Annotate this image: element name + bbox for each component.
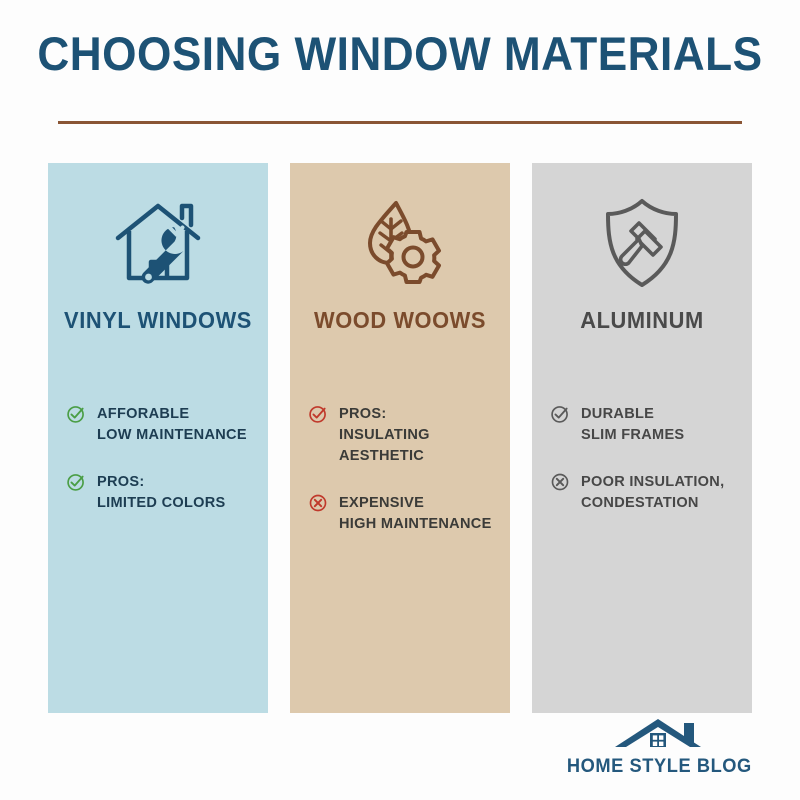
list-item-line: INSULATING: [339, 426, 430, 443]
feature-list-vinyl: AFFORABLE LOW MAINTENANCE PROS: LIMITED …: [66, 403, 258, 539]
leaf-gear-icon: [290, 193, 510, 293]
material-card-vinyl[interactable]: VINYL WINDOWS AFFORABLE LOW MAINTENANCE: [48, 163, 268, 713]
material-card-aluminum[interactable]: ALUMINUM DURABLE SLIM FRAMES: [532, 163, 752, 713]
list-item-text: PROS: LIMITED COLORS: [97, 471, 226, 513]
material-title-wood: WOOD WOOWS: [296, 307, 505, 334]
list-item-text: EXPENSIVE HIGH MAINTENANCE: [339, 492, 492, 534]
material-title-aluminum: ALUMINUM: [538, 307, 747, 334]
list-item-text: POOR INSULATION, CONDESTATION: [581, 471, 724, 513]
header: CHOOSING WINDOW MATERIALS: [0, 26, 800, 82]
list-item-line: CONDESTATION: [581, 494, 699, 511]
footer-branding[interactable]: HOME STYLE BLOG: [563, 717, 756, 778]
x-circle-icon: [308, 493, 328, 513]
feature-list-aluminum: DURABLE SLIM FRAMES POOR INSULATION, CON…: [550, 403, 742, 539]
list-item-text: PROS: INSULATING AESTHETIC: [339, 403, 430, 466]
list-item: PROS: LIMITED COLORS: [66, 471, 258, 513]
page-title: CHOOSING WINDOW MATERIALS: [24, 26, 776, 82]
list-item: POOR INSULATION, CONDESTATION: [550, 471, 742, 513]
list-item-line: LIMITED COLORS: [97, 494, 226, 511]
list-item-line: POOR INSULATION,: [581, 473, 724, 490]
x-circle-icon: [550, 472, 570, 492]
shield-hammer-icon: [532, 193, 752, 293]
list-item-text: AFFORABLE LOW MAINTENANCE: [97, 403, 247, 445]
list-item-line: LOW MAINTENANCE: [97, 426, 247, 443]
list-item-line: PROS:: [97, 473, 145, 490]
list-item: EXPENSIVE HIGH MAINTENANCE: [308, 492, 500, 534]
house-wrench-icon: [48, 193, 268, 293]
list-item-line: AFFORABLE: [97, 405, 189, 422]
check-circle-icon: [550, 404, 570, 424]
list-item-text: DURABLE SLIM FRAMES: [581, 403, 684, 445]
material-columns: VINYL WINDOWS AFFORABLE LOW MAINTENANCE: [48, 163, 752, 713]
list-item-line: PROS:: [339, 405, 387, 422]
check-circle-icon: [308, 404, 328, 424]
list-item: AFFORABLE LOW MAINTENANCE: [66, 403, 258, 445]
material-card-wood[interactable]: WOOD WOOWS PROS: INSULATING AESTHETIC: [290, 163, 510, 713]
list-item-line: SLIM FRAMES: [581, 426, 684, 443]
brand-name: HOME STYLE BLOG: [567, 756, 752, 778]
feature-list-wood: PROS: INSULATING AESTHETIC EXPENSIVE: [308, 403, 500, 560]
check-circle-icon: [66, 472, 86, 492]
check-circle-icon: [66, 404, 86, 424]
material-title-vinyl: VINYL WINDOWS: [54, 307, 263, 334]
list-item: DURABLE SLIM FRAMES: [550, 403, 742, 445]
header-divider: [58, 121, 742, 124]
list-item-line: AESTHETIC: [339, 447, 424, 464]
list-item-line: DURABLE: [581, 405, 654, 422]
list-item-line: EXPENSIVE: [339, 494, 424, 511]
list-item: PROS: INSULATING AESTHETIC: [308, 403, 500, 466]
house-roof-logo-icon: [563, 717, 756, 754]
infographic-canvas: CHOOSING WINDOW MATERIALS VINYL WINDOWS: [0, 0, 800, 800]
list-item-line: HIGH MAINTENANCE: [339, 515, 492, 532]
